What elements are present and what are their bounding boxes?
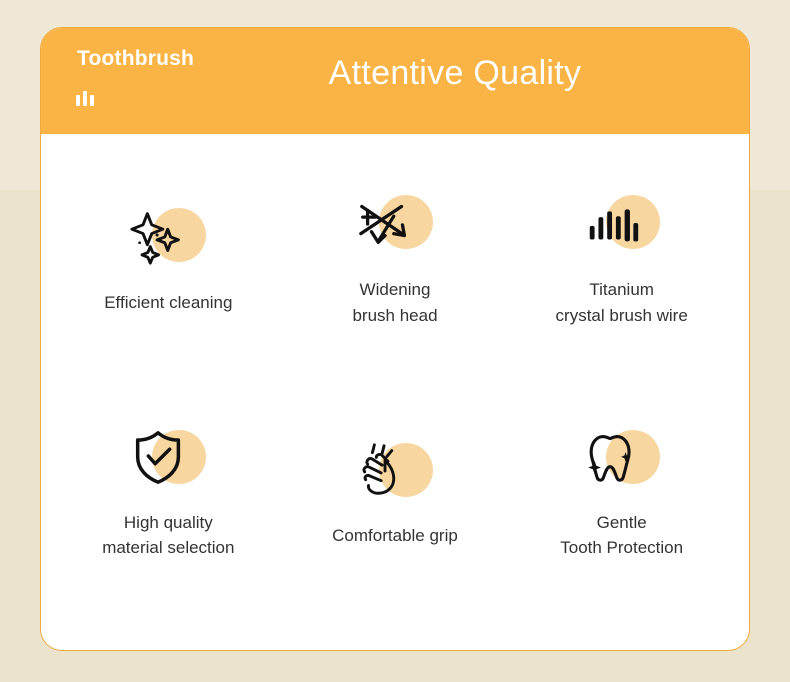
widening-arrows-icon (355, 191, 417, 253)
feature-icon-wrap (122, 424, 214, 496)
feature-label: Comfortable grip (332, 523, 458, 549)
page-root: Toothbrush Attentive Quality (0, 0, 790, 682)
feature-label: High quality material selection (102, 510, 234, 561)
features-grid: Efficient cleaning (41, 134, 749, 649)
sparkles-icon (128, 204, 190, 266)
tooth-sparkle-icon (582, 426, 644, 488)
feature-label: Widening brush head (352, 277, 437, 328)
feature-label: Efficient cleaning (104, 290, 232, 316)
feature-icon-wrap (349, 189, 441, 261)
shield-check-icon (128, 426, 190, 488)
feature-item-titanium-crystal-brush-wire: Titanium crystal brush wire (508, 142, 735, 376)
feature-icon-wrap (576, 189, 668, 261)
feature-icon-wrap (349, 437, 441, 509)
card-header: Toothbrush Attentive Quality (41, 28, 749, 134)
feature-label: Gentle Tooth Protection (560, 510, 683, 561)
feature-item-widening-brush-head: Widening brush head (282, 142, 509, 376)
feature-label: Titanium crystal brush wire (556, 277, 688, 328)
feature-icon-wrap (122, 202, 214, 274)
page-title: Attentive Quality (41, 54, 749, 93)
bristles-bars-icon (582, 191, 644, 253)
feature-item-comfortable-grip: Comfortable grip (282, 376, 509, 610)
product-feature-card: Toothbrush Attentive Quality (40, 27, 750, 651)
grip-hand-icon (355, 439, 417, 501)
feature-item-gentle-tooth-protection: Gentle Tooth Protection (508, 376, 735, 610)
feature-item-efficient-cleaning: Efficient cleaning (55, 142, 282, 376)
feature-item-high-quality-material-selection: High quality material selection (55, 376, 282, 610)
feature-icon-wrap (576, 424, 668, 496)
